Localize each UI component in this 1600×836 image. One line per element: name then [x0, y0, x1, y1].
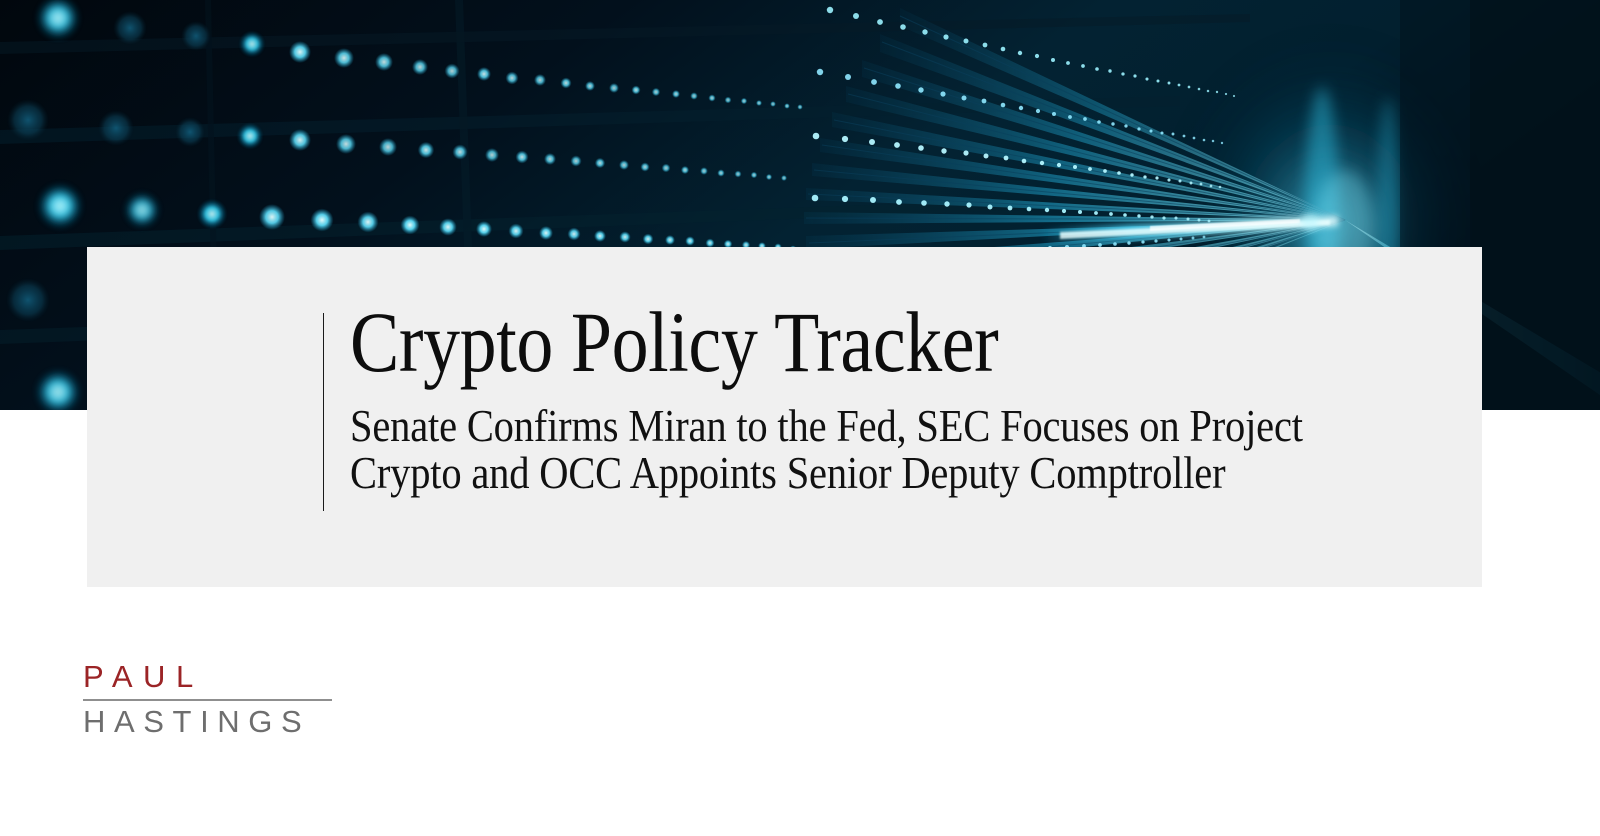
page-title: Crypto Policy Tracker — [350, 299, 1262, 385]
page-subtitle: Senate Confirms Miran to the Fed, SEC Fo… — [350, 385, 1412, 497]
headline-card: Crypto Policy Tracker Senate Confirms Mi… — [87, 247, 1482, 587]
headline-text-block: Crypto Policy Tracker Senate Confirms Mi… — [350, 299, 1410, 497]
page-root: Crypto Policy Tracker Senate Confirms Mi… — [0, 0, 1600, 836]
logo-divider-rule — [83, 699, 332, 701]
logo-wordmark-hastings: HASTINGS — [83, 705, 333, 739]
paul-hastings-logo[interactable]: PAUL HASTINGS — [83, 660, 333, 739]
accent-vertical-rule — [323, 313, 324, 511]
logo-wordmark-paul: PAUL — [83, 660, 333, 694]
